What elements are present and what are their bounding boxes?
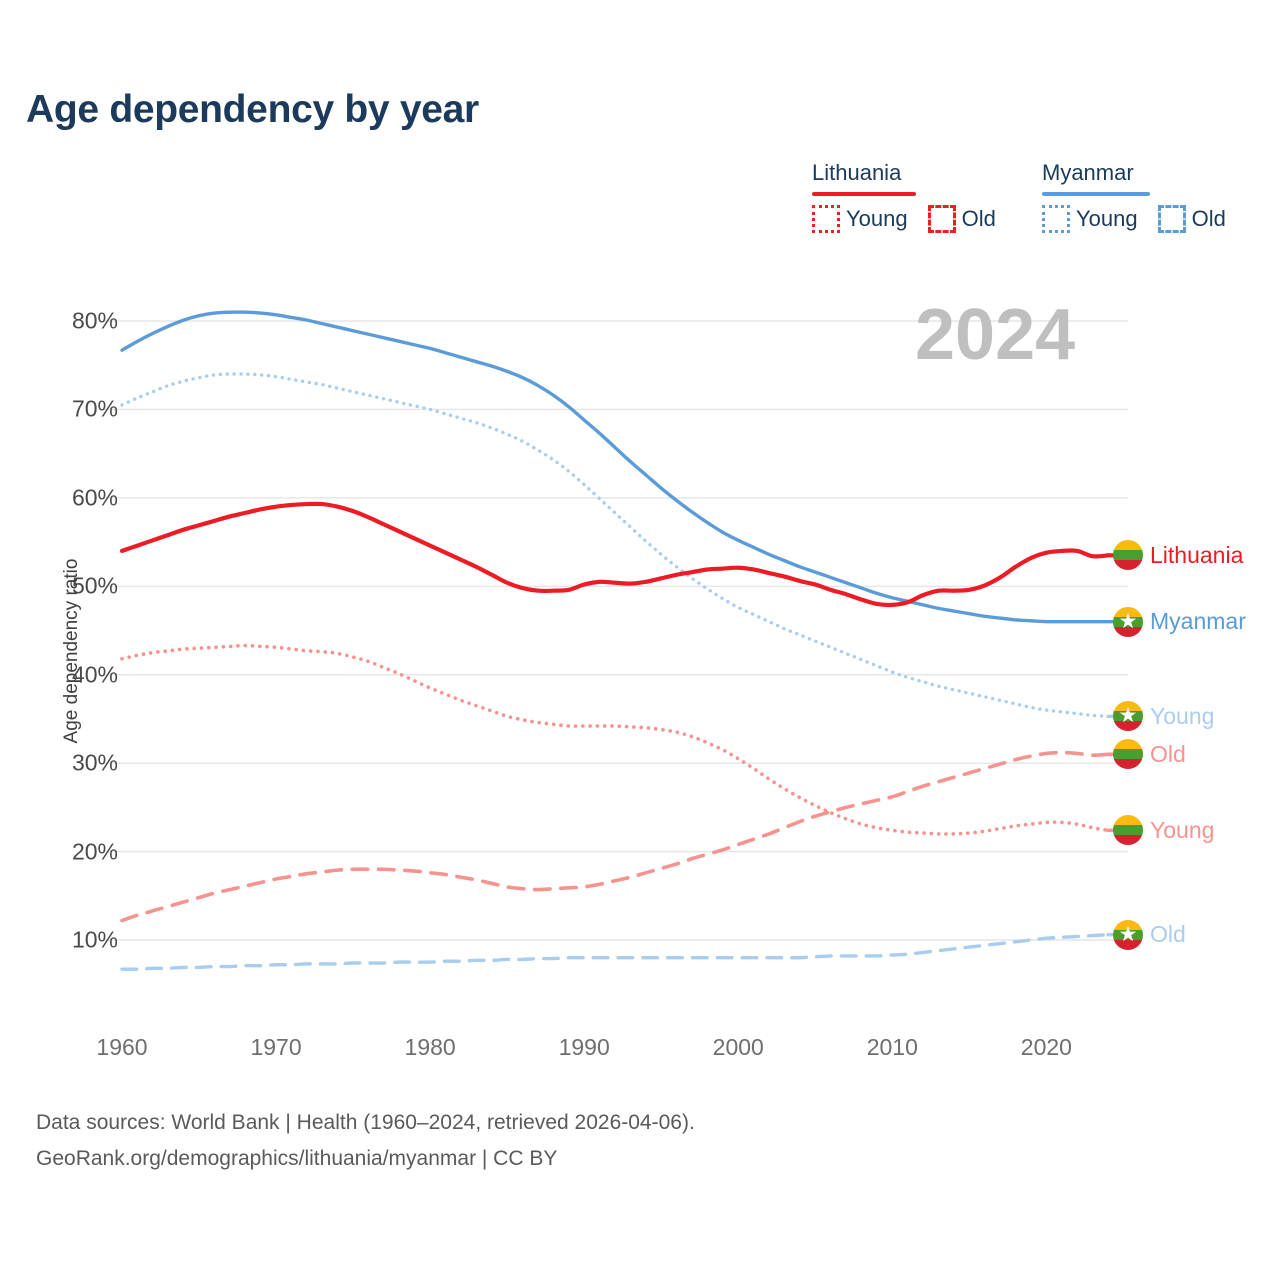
legend-swatch-dotted-icon[interactable] (812, 205, 840, 233)
legend-key-label: Old (962, 206, 996, 232)
legend-swatch-dashed-icon[interactable] (928, 205, 956, 233)
series-end-label-text: Old (1150, 741, 1186, 768)
legend-underline-myanmar (1042, 192, 1150, 196)
x-axis-tick-label: 1980 (405, 1034, 456, 1061)
year-watermark: 2024 (915, 294, 1075, 376)
series-end-label[interactable]: ★Myanmar (1113, 607, 1246, 637)
star-icon: ★ (1118, 612, 1138, 632)
flag-lithuania-icon (1113, 540, 1143, 570)
y-axis-tick-label: 70% (72, 396, 118, 423)
series-line-myanmar-old[interactable] (122, 935, 1108, 970)
flag-lithuania-icon (1113, 815, 1143, 845)
series-end-label[interactable]: ★Old (1113, 920, 1186, 950)
legend-swatch-dashed-icon[interactable] (1158, 205, 1186, 233)
flag-myanmar-icon: ★ (1113, 920, 1143, 950)
series-line-lithuania-old[interactable] (122, 753, 1108, 921)
series-end-label-text: Lithuania (1150, 542, 1243, 569)
series-end-label-text: Young (1150, 703, 1214, 730)
legend-underline-lithuania (812, 192, 916, 196)
footer-data-sources: Data sources: World Bank | Health (1960–… (36, 1105, 695, 1141)
y-axis-tick-label: 80% (72, 308, 118, 335)
x-axis-tick-label: 2000 (713, 1034, 764, 1061)
legend-key-row: Young Old Young Old (812, 205, 1272, 233)
star-icon: ★ (1118, 925, 1138, 945)
flag-myanmar-icon: ★ (1113, 701, 1143, 731)
legend-keys-myanmar: Young Old (1042, 205, 1272, 233)
series-end-label[interactable]: ★Young (1113, 701, 1214, 731)
legend-country-row: Lithuania Myanmar (812, 160, 1272, 196)
legend-country-label: Lithuania (812, 160, 901, 190)
series-end-label-text: Myanmar (1150, 608, 1246, 635)
series-line-lithuania[interactable] (122, 504, 1108, 605)
legend-swatch-dotted-icon[interactable] (1042, 205, 1070, 233)
flag-myanmar-icon: ★ (1113, 607, 1143, 637)
legend-keys-lithuania: Young Old (812, 205, 1042, 233)
series-end-label[interactable]: Lithuania (1113, 540, 1243, 570)
y-axis-tick-label: 10% (72, 927, 118, 954)
x-axis-tick-label: 1990 (559, 1034, 610, 1061)
chart-legend: Lithuania Myanmar Young Old Young Old (812, 160, 1272, 233)
series-end-label[interactable]: Young (1113, 815, 1214, 845)
legend-key-label: Old (1192, 206, 1226, 232)
star-icon: ★ (1118, 706, 1138, 726)
footer: Data sources: World Bank | Health (1960–… (36, 1105, 695, 1177)
series-line-lithuania-young[interactable] (122, 646, 1108, 834)
footer-attribution: GeoRank.org/demographics/lithuania/myanm… (36, 1141, 695, 1177)
x-axis-tick-label: 1960 (96, 1034, 147, 1061)
x-axis-tick-label: 1970 (250, 1034, 301, 1061)
legend-country-label: Myanmar (1042, 160, 1134, 190)
legend-country-lithuania[interactable]: Lithuania (812, 160, 1042, 196)
x-axis-tick-label: 2010 (867, 1034, 918, 1061)
series-line-myanmar-young[interactable] (122, 374, 1108, 716)
series-end-label[interactable]: Old (1113, 739, 1186, 769)
y-axis-ticks: 10%20%30%40%50%60%70%80% (0, 0, 118, 1280)
y-axis-label: Age dependency ratio (61, 521, 83, 781)
legend-key-label: Young (846, 206, 908, 232)
flag-lithuania-icon (1113, 739, 1143, 769)
legend-country-myanmar[interactable]: Myanmar (1042, 160, 1272, 196)
y-axis-tick-label: 20% (72, 838, 118, 865)
y-axis-tick-label: 60% (72, 484, 118, 511)
legend-key-label: Young (1076, 206, 1138, 232)
series-end-label-text: Young (1150, 817, 1214, 844)
x-axis-tick-label: 2020 (1021, 1034, 1072, 1061)
series-end-label-text: Old (1150, 921, 1186, 948)
